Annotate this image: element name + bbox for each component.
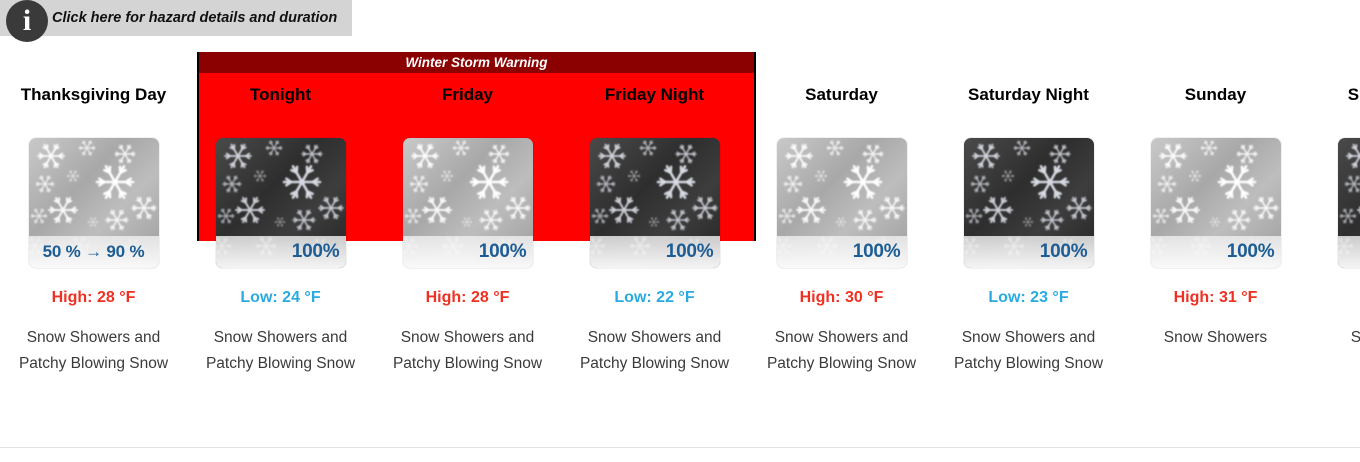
forecast-temperature: Low: 24 °F [240,289,320,307]
forecast-column[interactable]: Thanksgiving Day 50 % → 90 % High: 28 °F… [0,52,187,420]
forecast-day-name: Tonight [193,82,368,138]
forecast-day-name: Sunday Night [1315,82,1360,138]
snow-showers-icon[interactable]: 100% [1151,138,1281,268]
forecast-column[interactable]: Tonight 100% Low: 24 °F Snow Showers and… [187,52,374,420]
snow-showers-night-icon[interactable]: 100% [1338,138,1360,268]
forecast-column[interactable]: Sunday 100% High: 31 °F Snow Showers [1122,52,1309,420]
precip-probability-strip: 100% [403,236,533,268]
precip-probability-strip: 100% [964,236,1094,268]
forecast-day-name: Friday [380,82,555,138]
forecast-day-name: Saturday Night [941,82,1116,138]
forecast-temperature: High: 31 °F [1174,289,1258,307]
forecast-temperature: High: 30 °F [800,289,884,307]
forecast-column[interactable]: Friday Night 100% Low: 22 °F Snow Shower… [561,52,748,420]
forecast-description: Snow Showers [1136,325,1296,351]
precip-probability-strip: 50 % → 90 % [29,236,159,268]
hazard-banner[interactable]: i Click here for hazard details and dura… [0,0,352,36]
forecast-column[interactable]: Saturday Night 100% Low: 23 °F Snow Show… [935,52,1122,420]
forecast-column[interactable]: Saturday 100% High: 30 °F Snow Showers a… [748,52,935,420]
info-glyph: i [23,6,31,36]
forecast-temperature: Low: 22 °F [614,289,694,307]
forecast-description: Snow Showers and Patchy Blowing Snow [201,325,361,376]
precip-probability: 100% [1040,241,1088,263]
snow-showers-night-icon[interactable]: 100% [964,138,1094,268]
forecast-description: Snow Showers and Patchy Blowing Snow [14,325,174,376]
snow-showers-icon[interactable]: 100% [777,138,907,268]
forecast-column[interactable]: Sunday Night 100% Low: 24 °F Snow Shower… [1309,52,1360,420]
forecast-column[interactable]: Friday 100% High: 28 °F Snow Showers and… [374,52,561,420]
precip-probability-strip: 100% [1151,236,1281,268]
info-circle-icon: i [6,0,48,42]
precip-probability: 50 % → 90 % [43,242,145,262]
forecast-day-name: Friday Night [567,82,742,138]
forecast-temperature: High: 28 °F [52,289,136,307]
forecast-temperature: Low: 23 °F [988,289,1068,307]
snow-showers-night-icon[interactable]: 100% [216,138,346,268]
precip-probability: 100% [1227,241,1275,263]
forecast-day-name: Thanksgiving Day [6,82,181,138]
precip-probability: 100% [853,241,901,263]
forecast-temperature: High: 28 °F [426,289,510,307]
snow-showers-night-icon[interactable]: 100% [590,138,720,268]
precip-probability: 100% [292,241,340,263]
precip-probability-strip: 100% [777,236,907,268]
forecast-day-name: Sunday [1128,82,1303,138]
snow-showers-icon[interactable]: 50 % → 90 % [29,138,159,268]
forecast-description: Snow Showers and Patchy Blowing Snow [762,325,922,376]
precip-probability-strip: 100% [1338,236,1360,268]
forecast-description: Snow Showers and Patchy Blowing Snow [388,325,548,376]
forecast-description: Snow Showers [1323,325,1360,351]
bottom-divider [0,447,1360,448]
forecast-day-name: Saturday [754,82,929,138]
precip-probability-strip: 100% [590,236,720,268]
forecast-row: Thanksgiving Day 50 % → 90 % High: 28 °F… [0,52,1360,420]
precip-probability-strip: 100% [216,236,346,268]
forecast-description: Snow Showers and Patchy Blowing Snow [575,325,735,376]
snow-showers-icon[interactable]: 100% [403,138,533,268]
precip-probability: 100% [479,241,527,263]
forecast-page: i Click here for hazard details and dura… [0,0,1360,462]
forecast-description: Snow Showers and Patchy Blowing Snow [949,325,1109,376]
precip-probability: 100% [666,241,714,263]
hazard-banner-label: Click here for hazard details and durati… [52,10,337,26]
